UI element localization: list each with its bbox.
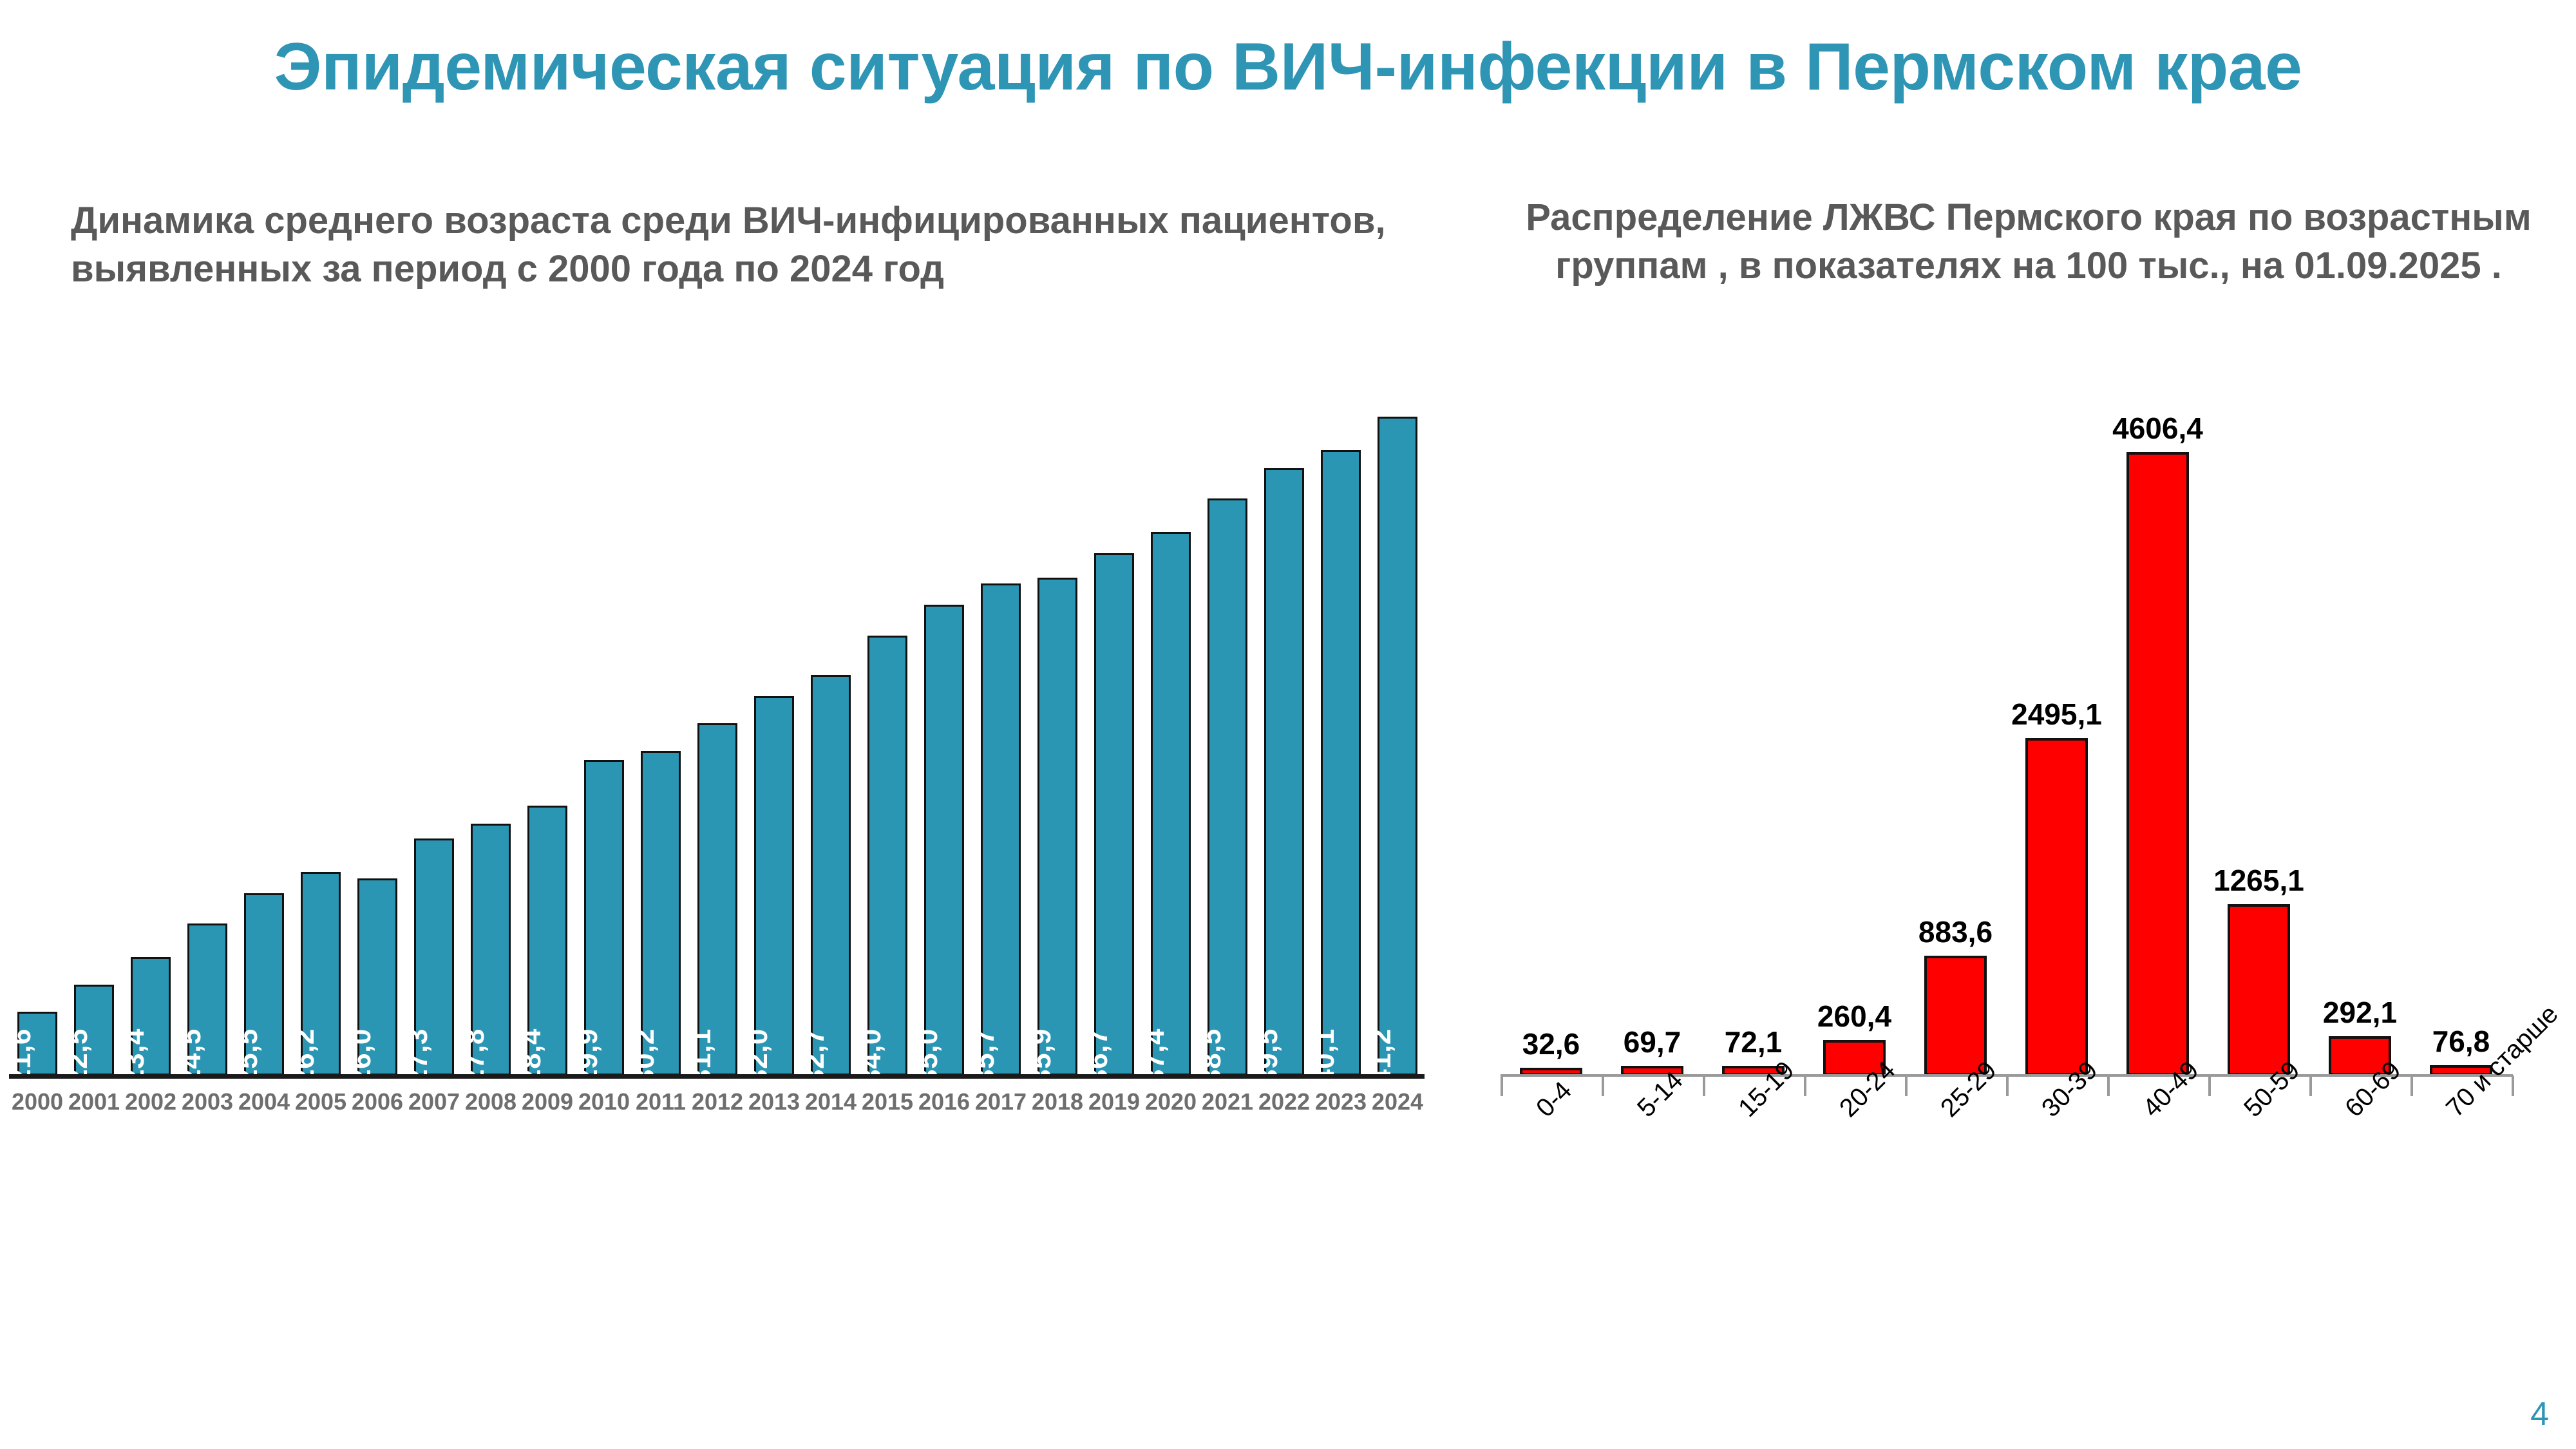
- x-axis-tick-mark: [1602, 1075, 1604, 1096]
- bar-column: 25,5: [244, 386, 284, 1075]
- bar-column: 27,8: [471, 386, 511, 1075]
- x-axis-tick-mark: [2512, 1075, 2514, 1096]
- x-axis-tick-label: 2006: [349, 1088, 406, 1115]
- bar-column: 72,1: [1722, 412, 1785, 1075]
- bar-column: 883,6: [1924, 412, 1987, 1075]
- bar-value-label: 2495,1: [2011, 697, 2102, 732]
- bar-column: 39,5: [1264, 386, 1304, 1075]
- mean-age-bar-chart-plot: 21,622,523,424,525,526,226,027,327,828,4…: [9, 386, 1426, 1075]
- bar-column: 23,4: [131, 386, 171, 1075]
- bar: 26,2: [301, 872, 341, 1075]
- x-axis-tick-label: 2013: [746, 1088, 802, 1115]
- x-axis-tick-label: 2003: [179, 1088, 236, 1115]
- bar: 27,3: [414, 838, 454, 1075]
- x-axis-tick-label: 2023: [1312, 1088, 1369, 1115]
- bar-column: 4606,4: [2126, 412, 2189, 1075]
- bar-column: 35,9: [1037, 386, 1077, 1075]
- x-axis-tick-label: 2016: [916, 1088, 972, 1115]
- x-axis-tick-label: 2019: [1086, 1088, 1142, 1115]
- bar-column: 28,4: [527, 386, 567, 1075]
- bar: 4606,4: [2126, 452, 2189, 1075]
- bar: 41,2: [1378, 417, 1417, 1075]
- bar: 2495,1: [2025, 738, 2088, 1075]
- bar-column: 40,1: [1321, 386, 1361, 1075]
- bar-column: 35,7: [981, 386, 1021, 1075]
- bar: 23,4: [131, 957, 171, 1075]
- bar: 26,0: [357, 878, 397, 1075]
- bar-column: 32,0: [754, 386, 794, 1075]
- bar-column: 26,0: [357, 386, 397, 1075]
- bar-value-label: 4606,4: [2112, 411, 2203, 446]
- bar-column: 29,9: [584, 386, 624, 1075]
- bar: 35,9: [1037, 578, 1077, 1075]
- bar: 883,6: [1924, 956, 1987, 1075]
- x-axis-tick-label: 2020: [1142, 1088, 1199, 1115]
- bar-column: 2495,1: [2025, 412, 2088, 1075]
- bar-column: 37,4: [1151, 386, 1191, 1075]
- bar: 35,7: [981, 583, 1021, 1075]
- x-axis-tick-label: 2024: [1369, 1088, 1426, 1115]
- bar-column: 31,1: [697, 386, 737, 1075]
- x-axis-tick-label: 2022: [1256, 1088, 1312, 1115]
- x-axis-tick-label: 2011: [632, 1088, 689, 1115]
- left-chart-x-axis-line: [9, 1074, 1425, 1079]
- left-chart-subtitle: Динамика среднего возраста среди ВИЧ-инф…: [71, 196, 1397, 294]
- bar-column: 260,4: [1823, 412, 1886, 1075]
- bar-column: 24,5: [187, 386, 227, 1075]
- bar: 32,7: [811, 675, 851, 1075]
- bar: 38,5: [1207, 498, 1247, 1075]
- bar-value-label: 292,1: [2323, 995, 2397, 1030]
- bar-column: 36,7: [1094, 386, 1134, 1075]
- bar-value-label: 260,4: [1817, 999, 1891, 1034]
- bar-column: 32,6: [1520, 412, 1582, 1075]
- x-axis-tick-mark: [2006, 1075, 2009, 1096]
- bar: 36,7: [1094, 553, 1134, 1075]
- bar: 21,6: [17, 1012, 57, 1075]
- x-axis-tick-mark: [1501, 1075, 1503, 1096]
- bar: 31,1: [697, 723, 737, 1075]
- bar: 40,1: [1321, 450, 1361, 1075]
- x-axis-tick-label: 2005: [292, 1088, 349, 1115]
- bar: 28,4: [527, 806, 567, 1076]
- bar-column: 1265,1: [2228, 412, 2290, 1075]
- bar-column: 41,2: [1378, 386, 1417, 1075]
- bar-column: 69,7: [1621, 412, 1683, 1075]
- bar: 32,0: [754, 696, 794, 1075]
- x-axis-tick-label: 2007: [406, 1088, 462, 1115]
- bar: 25,5: [244, 893, 284, 1075]
- bar-column: 26,2: [301, 386, 341, 1075]
- bar-column: 32,7: [811, 386, 851, 1075]
- x-axis-tick-mark: [1703, 1075, 1705, 1096]
- x-axis-tick-label: 2001: [66, 1088, 122, 1115]
- right-chart-subtitle: Распределение ЛЖВС Пермского края по воз…: [1513, 193, 2544, 290]
- bar-value-label: 883,6: [1918, 914, 1993, 949]
- x-axis-tick-label: 2018: [1029, 1088, 1086, 1115]
- bar: 39,5: [1264, 468, 1304, 1075]
- bar: 35,0: [924, 605, 964, 1075]
- bar-column: 76,8: [2430, 412, 2492, 1075]
- x-axis-tick-mark: [2410, 1075, 2413, 1096]
- bar-value-label: 32,6: [1522, 1027, 1580, 1061]
- bar-column: 21,6: [17, 386, 57, 1075]
- bar-value-label: 76,8: [2432, 1024, 2490, 1059]
- x-axis-tick-label: 2017: [972, 1088, 1029, 1115]
- x-axis-tick-label: 2004: [236, 1088, 292, 1115]
- bar-column: 30,2: [641, 386, 681, 1075]
- bar-column: 22,5: [74, 386, 114, 1075]
- bar-value-label: 1265,1: [2213, 863, 2304, 898]
- x-axis-tick-label: 2008: [462, 1088, 519, 1115]
- bar: 1265,1: [2228, 904, 2290, 1075]
- bar-value-label: 72,1: [1725, 1025, 1783, 1059]
- x-axis-tick-label: 2002: [122, 1088, 179, 1115]
- bar: 37,4: [1151, 532, 1191, 1075]
- x-axis-tick-mark: [1905, 1075, 1908, 1096]
- x-axis-tick-label: 2010: [576, 1088, 632, 1115]
- x-axis-tick-label: 2012: [689, 1088, 746, 1115]
- bar: 22,5: [74, 985, 114, 1075]
- bar-column: 34,0: [867, 386, 907, 1075]
- bar: 24,5: [187, 923, 227, 1075]
- bar: 29,9: [584, 760, 624, 1075]
- bar-column: 292,1: [2329, 412, 2391, 1075]
- x-axis-tick-mark: [1804, 1075, 1806, 1096]
- bar-column: 35,0: [924, 386, 964, 1075]
- bar-column: 38,5: [1207, 386, 1247, 1075]
- bar-value-label: 69,7: [1624, 1025, 1681, 1059]
- x-axis-tick-label: 2015: [859, 1088, 916, 1115]
- x-axis-tick-label: 2009: [519, 1088, 576, 1115]
- page-number: 4: [2530, 1395, 2549, 1434]
- x-axis-tick-label: 2000: [9, 1088, 66, 1115]
- bar: 27,8: [471, 824, 511, 1075]
- bar-column: 27,3: [414, 386, 454, 1075]
- x-axis-tick-mark: [2208, 1075, 2211, 1096]
- bar: 30,2: [641, 751, 681, 1075]
- left-chart-panel: Динамика среднего возраста среди ВИЧ-инф…: [0, 0, 1468, 1449]
- bar: 34,0: [867, 636, 907, 1075]
- age-group-bar-chart-plot: 32,669,772,1260,4883,62495,14606,41265,1…: [1501, 412, 2512, 1075]
- x-axis-tick-mark: [2107, 1075, 2110, 1096]
- x-axis-tick-label: 2014: [802, 1088, 859, 1115]
- x-axis-tick-label: 2021: [1199, 1088, 1256, 1115]
- x-axis-tick-mark: [2309, 1075, 2312, 1096]
